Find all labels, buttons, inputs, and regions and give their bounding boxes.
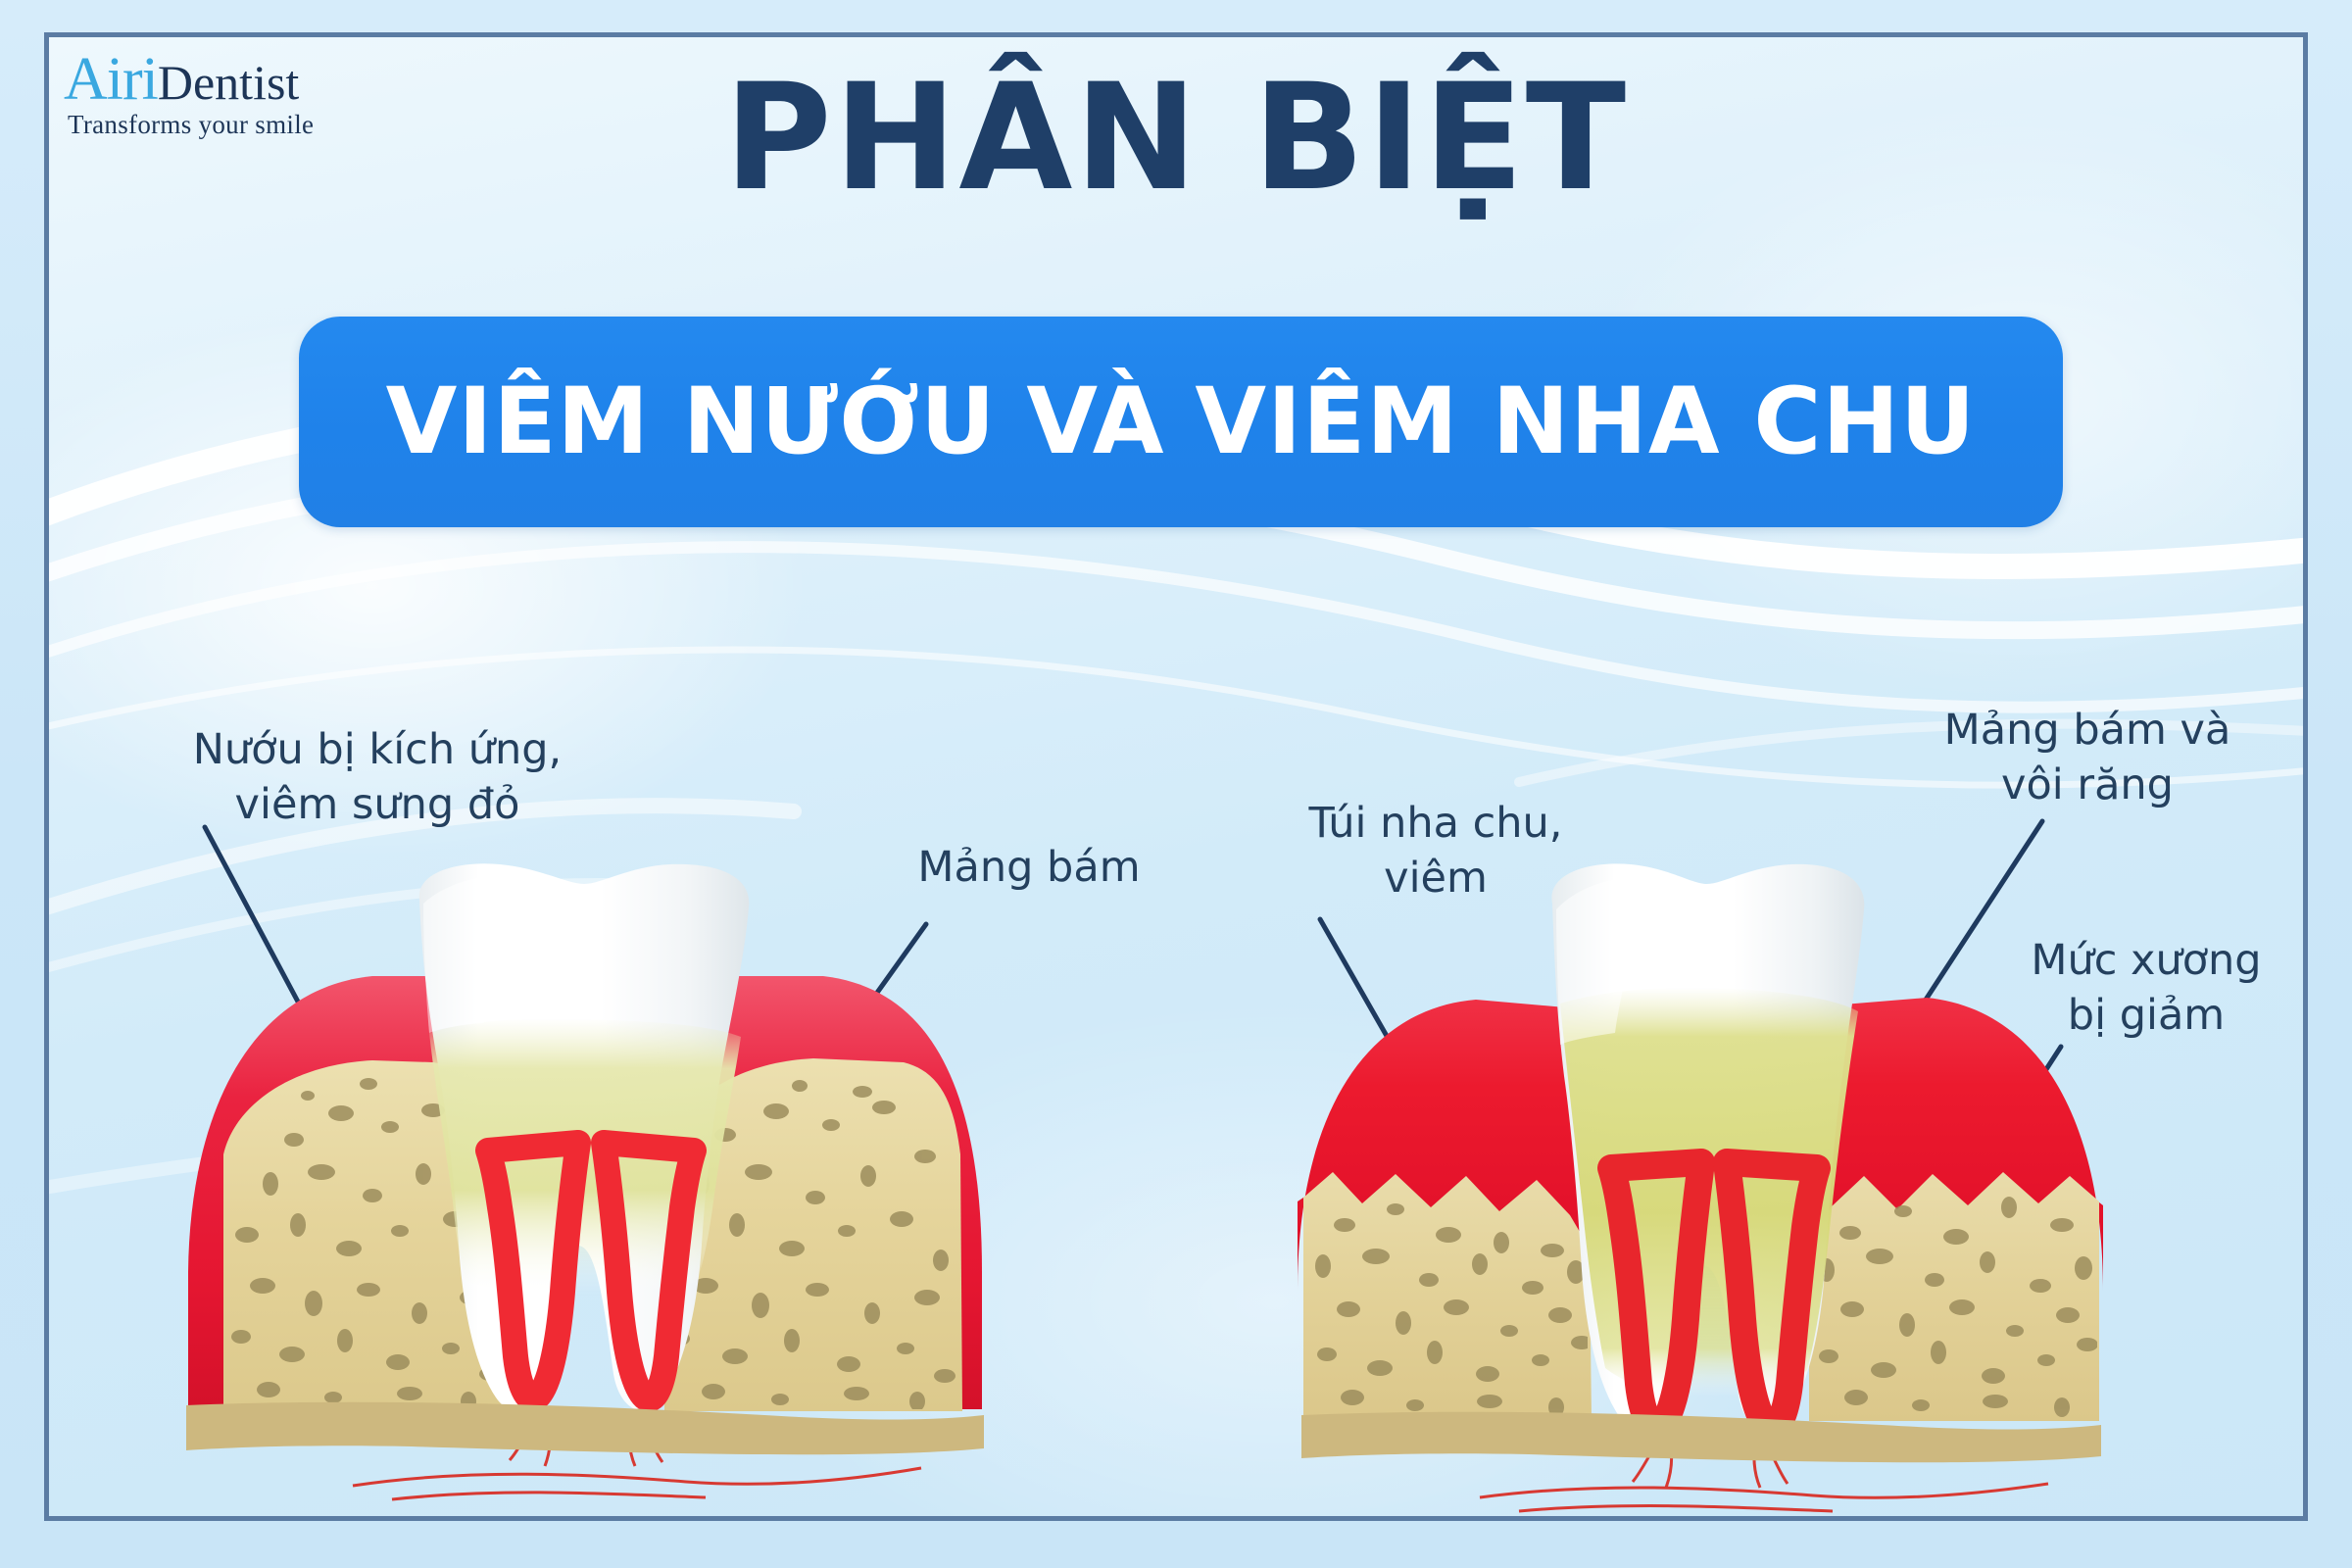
periodontitis-illustration — [1294, 860, 2107, 1521]
label-plaque-calculus: Mảng bám và vôi răng — [1921, 704, 2254, 813]
gingivitis-illustration — [176, 860, 990, 1521]
figure-gingivitis — [176, 860, 990, 1521]
label-plaque-left: Mảng bám — [867, 841, 1191, 896]
subtitle-part-gingivitis: VIÊM NƯỚU — [386, 368, 997, 475]
page-background: AiriDentist Transforms your smile PHÂN B… — [0, 0, 2352, 1568]
subtitle-banner-text: VIÊM NƯỚU VÀ VIÊM NHA CHU — [386, 368, 1977, 475]
subtitle-part-periodontitis: VIÊM NHA CHU — [1195, 368, 1976, 475]
subtitle-banner: VIÊM NƯỚU VÀ VIÊM NHA CHU — [299, 317, 2063, 527]
subtitle-conjunction: VÀ — [1026, 368, 1164, 475]
alveolar-bone-left — [1303, 1172, 1592, 1421]
alveolar-bone-right — [1809, 1172, 2099, 1421]
poster-frame: AiriDentist Transforms your smile PHÂN B… — [44, 32, 2308, 1521]
page-title: PHÂN BIỆT — [49, 65, 2303, 212]
label-periodontal-pocket: Túi nha chu, viêm — [1274, 797, 1597, 906]
figure-periodontitis — [1294, 860, 2107, 1521]
label-bone-loss: Mức xương bị giảm — [1994, 934, 2298, 1044]
label-gum-irritation: Nướu bị kích ứng, viêm sưng đỏ — [152, 723, 603, 833]
